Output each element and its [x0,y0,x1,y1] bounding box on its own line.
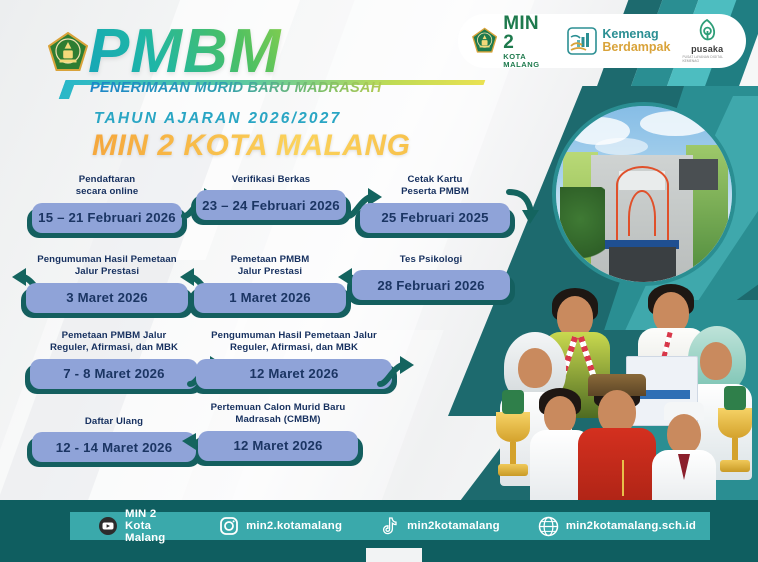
academic-year: TAHUN AJARAN 2026/2027 [94,110,410,128]
timeline-node-date: 12 Maret 2026 [198,431,358,461]
min2-logo-sub: KOTA MALANG [503,53,555,68]
footer-item-label: min2kotamalang.sch.id [566,520,696,532]
timeline-node-label: Daftar Ulang [32,416,196,428]
timeline-node-label: Pengumuman Hasil Pemetaan Jalur Prestasi [26,254,188,279]
footer-bar: MIN 2 Kota Malang min2.kotamalang [0,500,758,562]
timeline-node[interactable]: Pemetaan PMBM Jalur Reguler, Afirmasi, d… [30,330,198,389]
footer-item-label: min2.kotamalang [246,520,342,532]
timeline-row: Daftar Ulang 12 - 14 Maret 2026 Pertemua… [0,410,545,490]
footer-contact-strip: MIN 2 Kota Malang min2.kotamalang [70,512,710,540]
school-name: MIN 2 KOTA MALANG [92,129,410,163]
min2-logo: MIN 2 KOTA MALANG [472,14,555,68]
footer-item-label: min2kotamalang [407,520,500,532]
kemenag-mark-icon [567,26,597,56]
min2-seal-icon [472,25,497,57]
flow-arrow-down [505,186,549,222]
timeline-node-label: Verifikasi Berkas [196,174,346,186]
instagram-icon [219,516,239,536]
pmbm-poster: MIN 2 KOTA MALANG Kemenag Berdampak [0,0,758,562]
timeline-node[interactable]: Verifikasi Berkas 23 – 24 Februari 2026 [196,174,346,220]
footer-item-website[interactable]: min2kotamalang.sch.id [538,516,696,537]
timeline-node-label: Pemetaan PMBM Jalur Reguler, Afirmasi, d… [30,330,198,355]
pusaka-label: pusaka [691,44,723,54]
timeline-node[interactable]: Pengumuman Hasil Pemetaan Jalur Reguler,… [196,330,392,389]
timeline-node-label: Pertemuan Calon Murid Baru Madrasah (CMB… [198,402,358,427]
min2-logo-title: MIN 2 [503,14,555,52]
footer-item-tiktok[interactable]: min2kotamalang [380,516,500,536]
timeline-node-date: 12 - 14 Maret 2026 [32,432,196,462]
timeline-node-date: 1 Maret 2026 [194,283,346,313]
timeline-node-label: Pengumuman Hasil Pemetaan Jalur Reguler,… [196,330,392,355]
timeline-node[interactable]: Pemetaan PMBM Jalur Prestasi 1 Maret 202… [194,254,346,313]
footer-item-instagram[interactable]: min2.kotamalang [219,516,342,536]
pusaka-sublabel: PUSAT LAYANAN DIGITAL KEMENAG [682,55,732,63]
timeline-node[interactable]: Pengumuman Hasil Pemetaan Jalur Prestasi… [26,254,188,313]
page-title: PMBM [88,22,410,83]
timeline-node[interactable]: Pertemuan Calon Murid Baru Madrasah (CMB… [198,402,358,461]
poster-header: PMBM PENERIMAAN MURID BARU MADRASAH TAHU… [88,22,410,163]
timeline-node-label: Pendaftaran secara online [32,174,182,199]
page-subtitle: PENERIMAAN MURID BARU MADRASAH [88,79,410,98]
timeline: Pendaftaran secara online 15 – 21 Februa… [0,170,545,490]
globe-icon [538,516,559,537]
timeline-node-date: 3 Maret 2026 [26,283,188,313]
timeline-node-date: 23 – 24 Februari 2026 [196,190,346,220]
footer-item-label: MIN 2 Kota Malang [125,508,185,544]
school-building-photo [552,102,736,286]
timeline-row: Pemetaan PMBM Jalur Reguler, Afirmasi, d… [0,330,545,410]
footer-notch [366,548,422,562]
timeline-node-label: Pemetaan PMBM Jalur Prestasi [194,254,346,279]
timeline-node-date: 7 - 8 Maret 2026 [30,359,198,389]
flow-arrow-right [376,354,420,390]
timeline-node-date: 25 Februari 2025 [360,203,510,233]
partner-logo-card: MIN 2 KOTA MALANG Kemenag Berdampak [458,14,746,68]
kemenag-berdampak-logo: Kemenag Berdampak [567,26,670,56]
kemenag-seal-icon [48,32,88,74]
pusaka-leaf-icon [696,19,718,43]
pusaka-logo: pusaka PUSAT LAYANAN DIGITAL KEMENAG [682,19,732,63]
timeline-node-label: Tes Psikologi [352,254,510,266]
timeline-node-date: 12 Maret 2026 [196,359,392,389]
timeline-node-label: Cetak Kartu Peserta PMBM [360,174,510,199]
youtube-icon [98,516,118,536]
kemenag-line2: Berdampak [602,41,670,54]
timeline-row: Pengumuman Hasil Pemetaan Jalur Prestasi… [0,250,545,330]
timeline-node[interactable]: Cetak Kartu Peserta PMBM 25 Februari 202… [360,174,510,233]
timeline-node[interactable]: Daftar Ulang 12 - 14 Maret 2026 [32,416,196,462]
timeline-row: Pendaftaran secara online 15 – 21 Februa… [0,170,545,250]
footer-item-youtube[interactable]: MIN 2 Kota Malang [98,508,185,544]
timeline-node-date: 15 – 21 Februari 2026 [32,203,182,233]
timeline-node[interactable]: Pendaftaran secara online 15 – 21 Februa… [32,174,182,233]
tiktok-icon [380,516,400,536]
